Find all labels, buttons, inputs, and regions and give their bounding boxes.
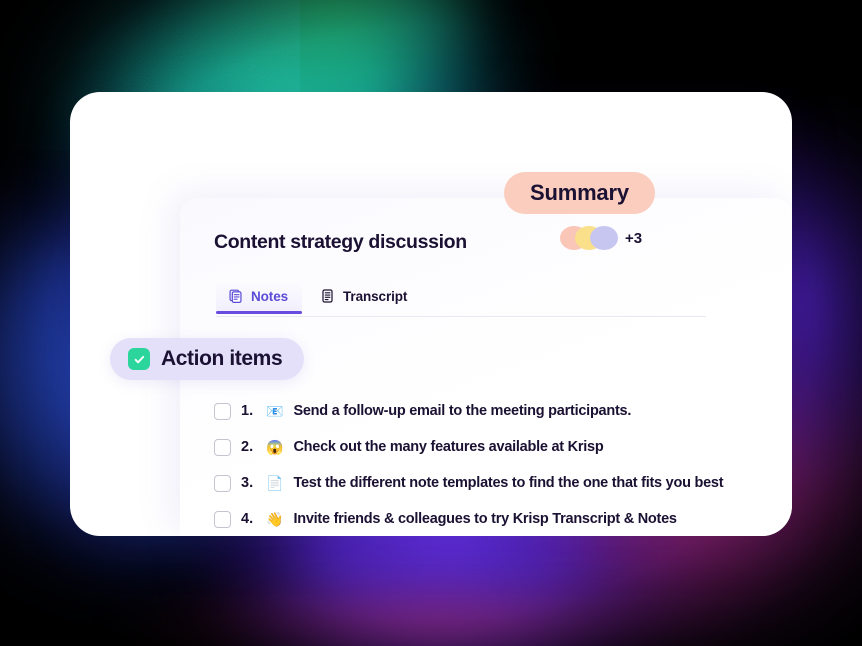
participant-avatar-group[interactable]: +3 — [560, 226, 642, 250]
list-item[interactable]: 2. 😱 Check out the many features availab… — [214, 429, 794, 465]
action-item-text: Invite friends & colleagues to try Krisp… — [293, 511, 676, 527]
list-item[interactable]: 1. 📧 Send a follow-up email to the meeti… — [214, 393, 794, 429]
action-item-emoji: 👋 — [266, 512, 283, 526]
tab-notes[interactable]: Notes — [216, 282, 302, 313]
tab-transcript[interactable]: Transcript — [308, 282, 421, 313]
page-title: Content strategy discussion — [214, 231, 467, 254]
action-item-number: 1. — [241, 403, 256, 419]
action-item-number: 2. — [241, 439, 256, 455]
tab-transcript-label: Transcript — [343, 289, 407, 304]
screenshot-stage: Summary Content strategy discussion +3 N… — [0, 0, 862, 646]
tab-notes-label: Notes — [251, 289, 288, 304]
glow-pink — [40, 560, 840, 646]
action-item-text: Check out the many features available at… — [293, 439, 603, 455]
avatar-overflow-count: +3 — [625, 230, 642, 247]
panel-tabs: Notes Transcript — [216, 282, 421, 313]
action-item-emoji: 📧 — [266, 404, 283, 418]
tab-divider — [216, 316, 706, 317]
action-item-number: 4. — [241, 511, 256, 527]
action-item-checkbox[interactable] — [214, 439, 231, 456]
transcript-icon — [320, 288, 335, 304]
action-items-badge[interactable]: Action items — [110, 338, 304, 380]
action-item-text: Send a follow-up email to the meeting pa… — [293, 403, 631, 419]
list-item[interactable]: 4. 👋 Invite friends & colleagues to try … — [214, 501, 794, 537]
action-item-number: 3. — [241, 475, 256, 491]
action-item-emoji: 📄 — [266, 476, 283, 490]
action-item-emoji: 😱 — [266, 440, 283, 454]
action-item-checkbox[interactable] — [214, 403, 231, 420]
list-item[interactable]: 3. 📄 Test the different note templates t… — [214, 465, 794, 501]
action-items-list: 1. 📧 Send a follow-up email to the meeti… — [214, 393, 794, 537]
summary-pill[interactable]: Summary — [504, 172, 655, 214]
notes-icon — [228, 288, 243, 304]
check-square-icon — [128, 348, 150, 370]
action-items-label: Action items — [161, 347, 282, 371]
avatar-stack — [560, 226, 618, 250]
action-item-checkbox[interactable] — [214, 475, 231, 492]
avatar — [590, 226, 618, 250]
action-item-text: Test the different note templates to fin… — [293, 475, 723, 491]
action-item-checkbox[interactable] — [214, 511, 231, 528]
